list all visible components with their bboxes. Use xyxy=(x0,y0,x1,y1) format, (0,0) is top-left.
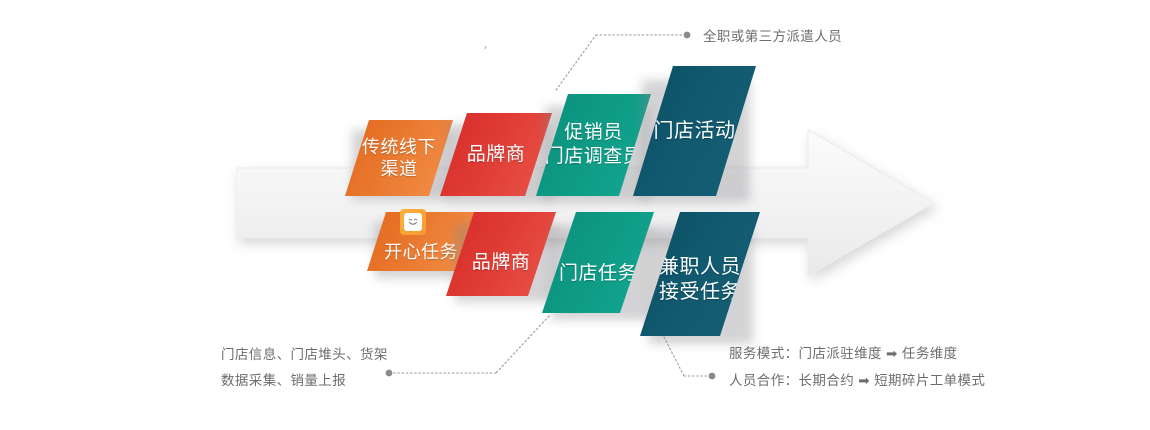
diagram-canvas: 传统线下 渠道 品牌商 促销员 门店调查员 门店活动 开心任务 品牌商 门店任务 xyxy=(0,0,1150,430)
tile-label: 门店活动 xyxy=(654,119,736,144)
tile-label: 品牌商 xyxy=(472,251,531,275)
annotation-bottom-left: 门店信息、门店堆头、货架 数据采集、销量上报 xyxy=(221,342,388,395)
tile-label: 品牌商 xyxy=(467,143,526,167)
annotation-bottom-right-service-model: 服务模式：门店派驻维度 ➡ 任务维度 xyxy=(729,341,958,367)
tile-label: 促销员 门店调查员 xyxy=(545,121,643,169)
smiley-icon xyxy=(400,209,426,235)
speck-artifact xyxy=(484,46,487,49)
tile-label: 开心任务 xyxy=(384,241,458,264)
smiley-icon-face xyxy=(404,213,422,231)
annotation-bottom-right-staff-cooperation: 人员合作：长期合约 ➡ 短期碎片工单模式 xyxy=(729,368,985,394)
tile-label: 传统线下 渠道 xyxy=(362,136,436,181)
tile-label: 兼职人员 接受任务 xyxy=(659,255,741,305)
annotation-top-right: 全职或第三方派遣人员 xyxy=(703,24,842,50)
tile-label: 门店任务 xyxy=(559,262,637,286)
